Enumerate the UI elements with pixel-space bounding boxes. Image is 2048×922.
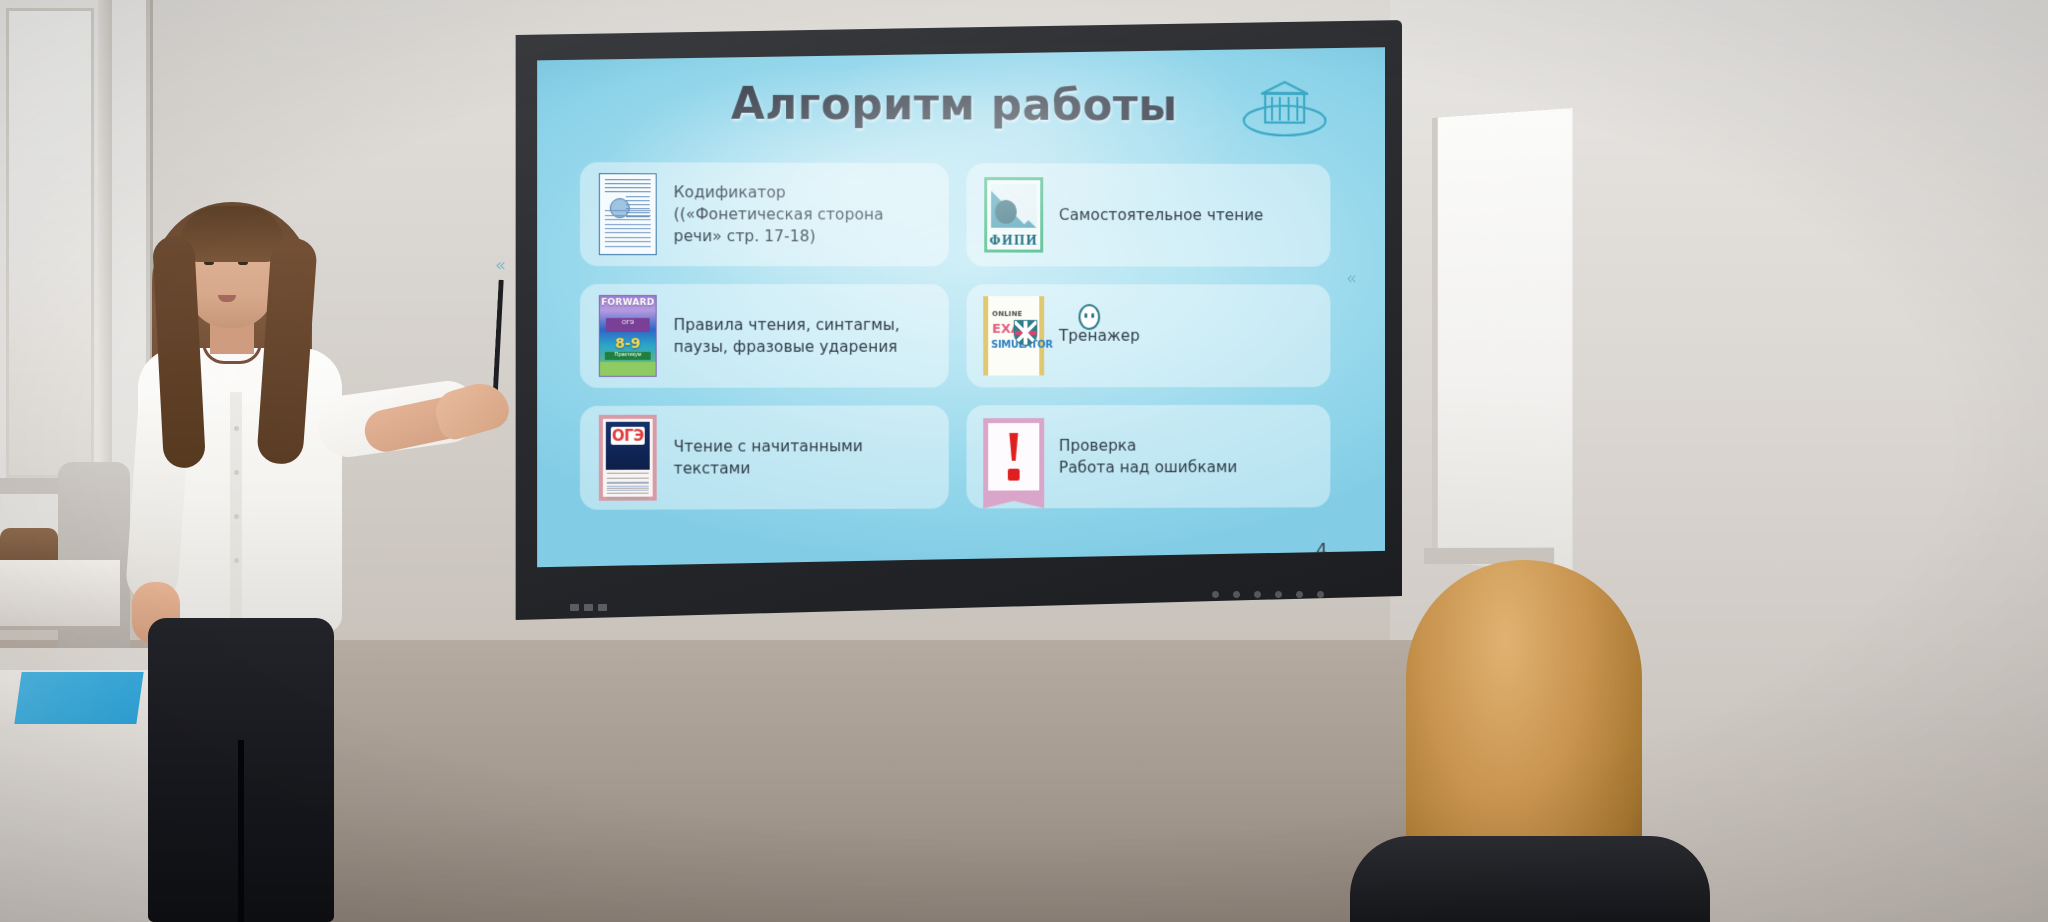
presenter xyxy=(96,180,496,922)
card-reading-rules[interactable]: FORWARD ОГЭ 8-9 Практикум Правила чтения… xyxy=(580,284,949,388)
oge-book-icon: ОГЭ xyxy=(592,414,664,502)
audience-shoulders xyxy=(1350,836,1710,922)
presenter-leg-gap xyxy=(238,740,244,922)
forward-textbook-icon: FORWARD ОГЭ 8-9 Практикум xyxy=(592,292,664,380)
display-screen[interactable]: Алгоритм работы xyxy=(532,44,1385,589)
codifier-document-icon xyxy=(592,170,664,258)
exclamation-alert-icon xyxy=(978,413,1049,500)
presenter-hair-front xyxy=(180,206,284,262)
card-line: Самостоятельное чтение xyxy=(1059,204,1264,226)
display-indicator-dots xyxy=(1212,591,1324,598)
classroom-photo-scene: Алгоритм работы xyxy=(0,0,2048,922)
card-line: Тренажер xyxy=(1059,325,1140,347)
forward-grade: 8-9 xyxy=(600,336,656,352)
online-exam-simulator-icon: ONLINE EXAM SIMULATOR xyxy=(978,292,1049,379)
card-self-reading-text: Самостоятельное чтение xyxy=(1059,204,1264,226)
panel-left-handle-icon[interactable]: « xyxy=(495,255,506,276)
card-self-reading[interactable]: ФИПИ Самостоятельное чтение xyxy=(967,163,1331,267)
interactive-display[interactable]: Алгоритм работы xyxy=(492,20,1402,620)
card-trainer[interactable]: ONLINE EXAM SIMULATOR Тренажер xyxy=(967,284,1331,387)
card-line: Чтение с начитанными xyxy=(674,435,863,457)
card-line: Кодификатор xyxy=(674,181,884,203)
panel-right-handle-icon[interactable]: « xyxy=(1346,268,1357,289)
shirt-button xyxy=(234,558,239,563)
institution-logo-icon xyxy=(1240,77,1330,139)
exam-sim-line1: ONLINE xyxy=(992,310,1022,318)
card-trainer-text: Тренажер xyxy=(1059,325,1140,347)
card-codifier[interactable]: Кодификатор ((«Фонетическая сторона речи… xyxy=(580,162,949,266)
card-line: Проверка xyxy=(1059,435,1237,457)
window-pane xyxy=(6,8,94,478)
card-reading-recorded-text: Чтение с начитанными текстами xyxy=(674,435,863,479)
card-reading-recorded[interactable]: ОГЭ Чтение с начитанными текстами xyxy=(580,405,949,509)
card-line: текстами xyxy=(674,457,863,479)
shirt-button xyxy=(234,514,239,519)
card-line: речи» стр. 17-18) xyxy=(674,225,884,247)
forward-title: FORWARD xyxy=(600,298,656,308)
shirt-button xyxy=(234,426,239,431)
oge-label: ОГЭ xyxy=(611,427,645,445)
card-check-errors-text: Проверка Работа над ошибками xyxy=(1059,435,1237,479)
card-line: ((«Фонетическая сторона xyxy=(674,203,884,225)
card-reading-rules-text: Правила чтения, синтагмы, паузы, фразовы… xyxy=(674,314,900,358)
card-line: Работа над ошибками xyxy=(1059,456,1237,478)
display-brand-logo xyxy=(570,600,626,614)
card-line: Правила чтения, синтагмы, xyxy=(674,314,900,336)
fipi-logo-label: ФИПИ xyxy=(987,234,1040,248)
card-line: паузы, фразовые ударения xyxy=(674,336,900,358)
algorithm-card-grid: Кодификатор ((«Фонетическая сторона речи… xyxy=(580,162,1330,510)
card-check-errors[interactable]: Проверка Работа над ошибками xyxy=(967,405,1331,509)
shirt-button xyxy=(234,470,239,475)
card-codifier-text: Кодификатор ((«Фонетическая сторона речи… xyxy=(674,181,884,247)
fipi-logo-icon: ФИПИ xyxy=(978,171,1049,258)
whiteboard xyxy=(1432,108,1573,572)
